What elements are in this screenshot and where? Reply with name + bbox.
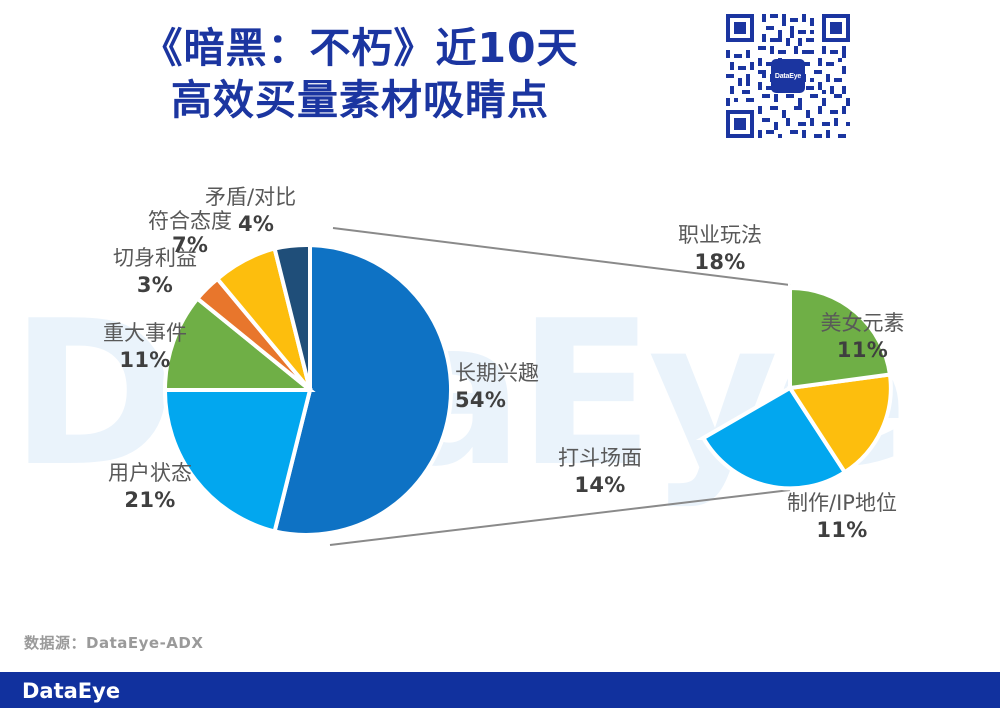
label-meinvyuansu-value: 11%	[837, 338, 888, 362]
label-qieshenliyi-value: 3%	[137, 273, 173, 297]
label-zhizuoipdiwei: 制作/IP地位 11%	[752, 490, 932, 544]
label-changqixingqu-name: 长期兴趣	[455, 360, 539, 387]
label-zhiyewanfa: 职业玩法 18%	[655, 222, 785, 276]
label-maodunduibi: 矛盾/对比	[205, 184, 296, 211]
label-yonghuzhuangtai-value: 21%	[124, 488, 175, 512]
label-zhizuoipdiwei-value: 11%	[816, 518, 867, 542]
label-changqixingqu-value: 54%	[455, 388, 506, 412]
label-zhiyewanfa-value: 18%	[694, 250, 745, 274]
footer-bar: DataEye	[0, 672, 1000, 708]
label-maodunduibi-value: 4%	[238, 212, 274, 236]
label-zhongdashijian: 重大事件 11%	[80, 320, 210, 374]
qr-center-logo: DataEye	[771, 59, 805, 93]
label-dadouchangmian: 打斗场面 14%	[530, 445, 670, 499]
label-fuhetaidu-value: 7%	[172, 233, 208, 257]
label-meinvyuansu-name: 美女元素	[795, 310, 930, 337]
label-dadouchangmian-name: 打斗场面	[530, 445, 670, 472]
label-yonghuzhuangtai: 用户状态 21%	[85, 460, 215, 514]
label-fuhetaidu-pct: 7%	[172, 232, 208, 259]
data-source-note: 数据源：DataEye-ADX	[24, 632, 203, 653]
label-zhongdashijian-name: 重大事件	[80, 320, 210, 347]
header: 《暗黑：不朽》近10天 高效买量素材吸睛点	[0, 0, 1000, 160]
label-yonghuzhuangtai-name: 用户状态	[85, 460, 215, 487]
page-title: 《暗黑：不朽》近10天 高效买量素材吸睛点	[0, 22, 720, 126]
label-zhongdashijian-value: 11%	[119, 348, 170, 372]
label-maodunduibi-name: 矛盾/对比	[205, 185, 296, 209]
dataeye-logo: DataEye	[22, 679, 120, 703]
label-meinvyuansu: 美女元素 11%	[795, 310, 930, 364]
label-fuhetaidu-name: 符合态度	[148, 209, 232, 233]
pie-chart-figure: 长期兴趣 54% 用户状态 21% 重大事件 11% 切身利益 3% 符合态度 …	[0, 160, 1000, 610]
label-dadouchangmian-value: 14%	[574, 473, 625, 497]
label-fuhetaidu: 符合态度	[148, 208, 232, 235]
label-maodunduibi-pct: 4%	[238, 211, 274, 238]
qr-code[interactable]: DataEye	[722, 10, 854, 142]
label-zhizuoipdiwei-name: 制作/IP地位	[752, 490, 932, 517]
label-zhiyewanfa-name: 职业玩法	[655, 222, 785, 249]
label-changqixingqu: 长期兴趣 54%	[455, 360, 539, 414]
